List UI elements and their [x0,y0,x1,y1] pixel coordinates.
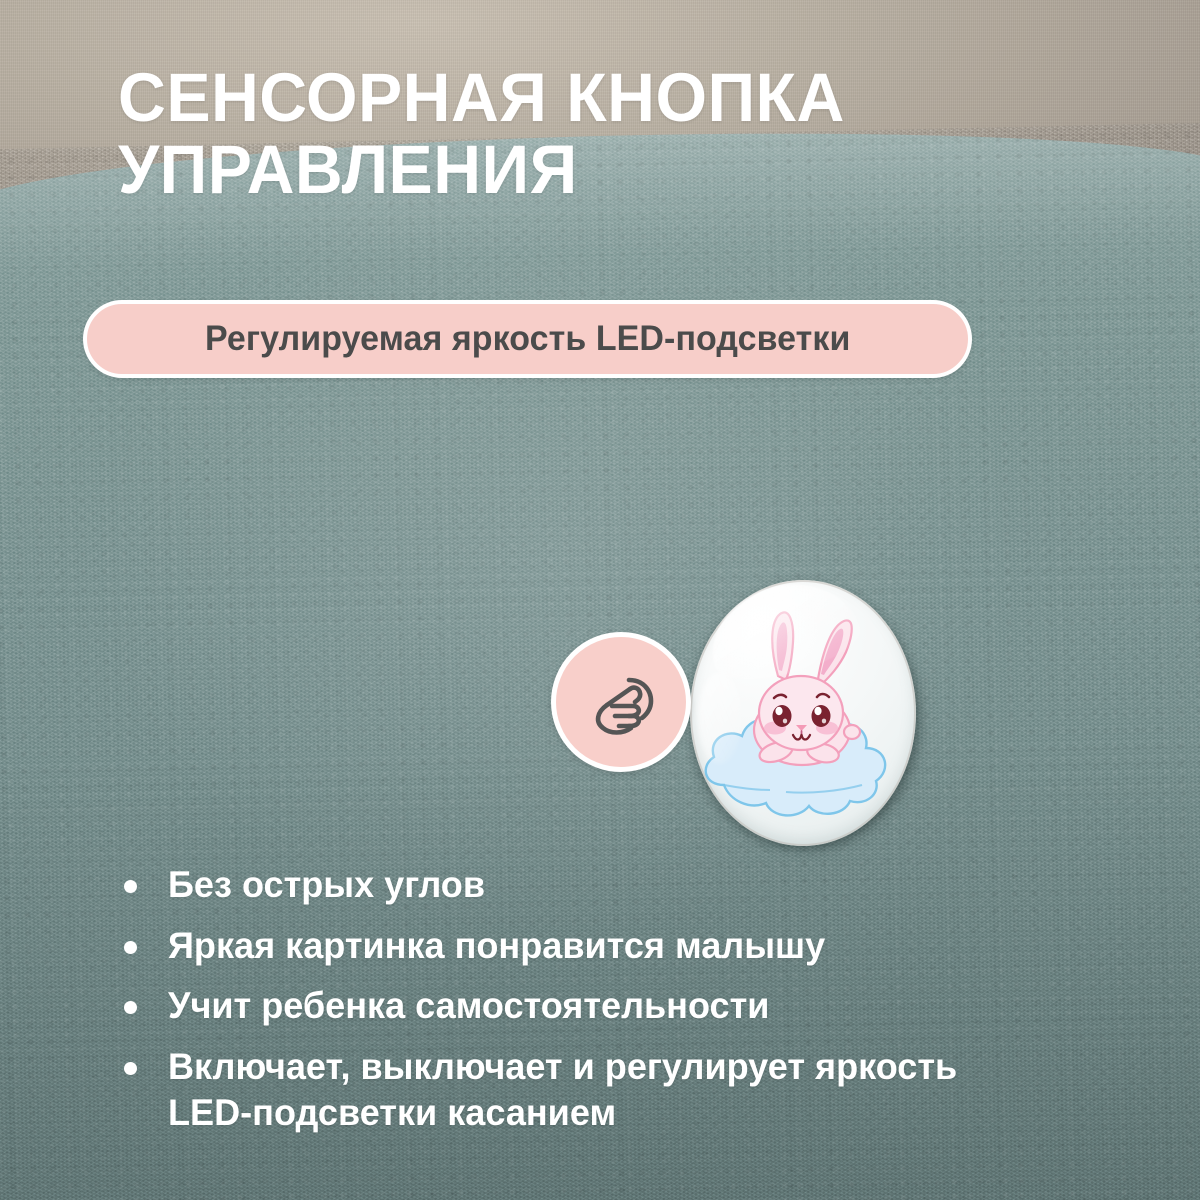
feature-badge: Регулируемая яркость LED-подсветки [83,300,972,378]
list-item: Яркая картинка понравится малышу [124,923,1024,970]
list-item: Включает, выключает и регулирует яркость… [124,1044,1024,1137]
list-item-label: Учит ребенка самостоятельности [168,983,769,1030]
bullet-dot-icon [124,941,137,954]
title-line-1: Сенсорная кнопка [118,59,845,136]
bullet-dot-icon [124,1062,137,1075]
product-button [690,580,916,846]
bullet-dot-icon [124,880,137,893]
list-item-label: Без острых углов [168,862,485,909]
list-item: Учит ребенка самостоятельности [124,983,1024,1030]
feature-badge-label: Регулируемая яркость LED-подсветки [205,319,850,359]
list-item: Без острых углов [124,862,1024,909]
product-infographic: Сенсорная кнопка управления Регулируемая… [0,0,1200,1200]
touch-gesture-badge [551,632,691,772]
page-title: Сенсорная кнопка управления [118,62,1040,206]
feature-list: Без острых углов Яркая картинка понравит… [124,862,1024,1151]
touch-tap-hand-icon [581,662,661,742]
button-gloss-secondary [698,672,742,764]
list-item-label: Включает, выключает и регулирует яркость… [168,1044,1003,1137]
list-item-label: Яркая картинка понравится малышу [168,923,825,970]
bullet-dot-icon [124,1001,137,1014]
title-line-2: управления [118,134,1040,206]
